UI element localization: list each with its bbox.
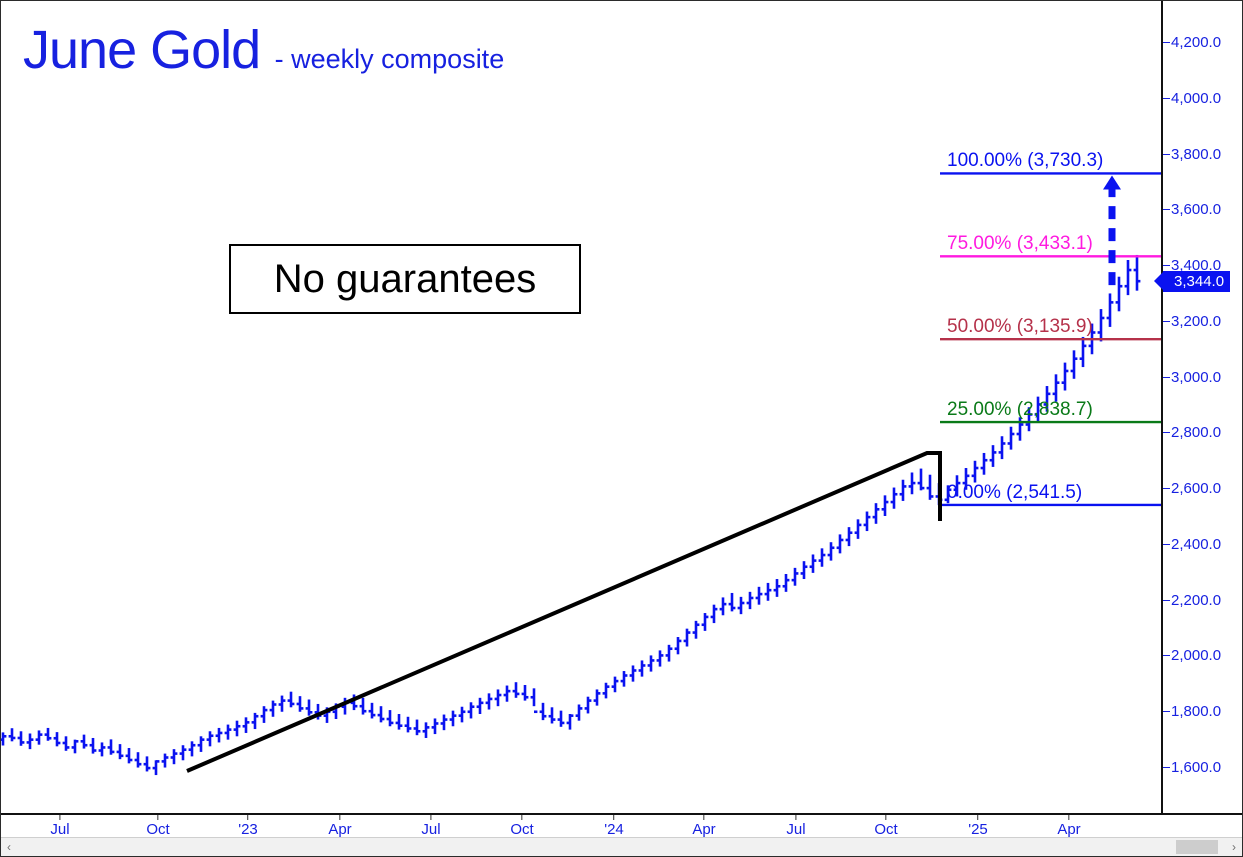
date-tick-mark bbox=[431, 815, 432, 820]
price-tick: 3,600.0 bbox=[1163, 203, 1221, 217]
date-tick: Apr bbox=[1057, 815, 1080, 838]
date-tick-mark bbox=[614, 815, 615, 820]
date-tick-mark bbox=[886, 815, 887, 820]
date-tick-label: '24 bbox=[604, 821, 624, 838]
date-tick: Apr bbox=[692, 815, 715, 838]
price-tick: 3,000.0 bbox=[1163, 370, 1221, 384]
date-tick-mark bbox=[248, 815, 249, 820]
projection-arrow-head bbox=[1103, 175, 1121, 189]
price-tick: 3,800.0 bbox=[1163, 147, 1221, 161]
horizontal-scrollbar[interactable]: ‹ › bbox=[1, 837, 1242, 856]
price-tick-mark bbox=[1163, 42, 1170, 43]
price-tick-mark bbox=[1163, 209, 1170, 210]
date-tick-label: Apr bbox=[328, 821, 351, 838]
price-tick-label: 4,000.0 bbox=[1171, 90, 1221, 107]
price-tick: 2,200.0 bbox=[1163, 593, 1221, 607]
date-tick: Jul bbox=[786, 815, 805, 838]
price-tick-mark bbox=[1163, 321, 1170, 322]
price-tick-mark bbox=[1163, 767, 1170, 768]
date-tick-label: Oct bbox=[146, 821, 169, 838]
date-tick-mark bbox=[60, 815, 61, 820]
price-tick-mark bbox=[1163, 488, 1170, 489]
price-tick-mark bbox=[1163, 544, 1170, 545]
price-tick: 4,000.0 bbox=[1163, 91, 1221, 105]
date-tick-mark bbox=[704, 815, 705, 820]
price-tick: 2,000.0 bbox=[1163, 649, 1221, 663]
date-axis[interactable]: JulOct'23AprJulOct'24AprJulOct'25Apr bbox=[1, 813, 1243, 837]
fib-level-label: 100.00% (3,730.3) bbox=[947, 150, 1103, 172]
price-tick-mark bbox=[1163, 711, 1170, 712]
fib-level-label: 50.00% (3,135.9) bbox=[947, 316, 1093, 338]
price-tick-mark bbox=[1163, 98, 1170, 99]
date-tick-label: Jul bbox=[786, 821, 805, 838]
price-tick-mark bbox=[1163, 154, 1170, 155]
price-tick-label: 2,600.0 bbox=[1171, 480, 1221, 497]
price-tick-mark bbox=[1163, 265, 1170, 266]
date-tick-label: '25 bbox=[968, 821, 988, 838]
plot-area[interactable]: 100.00% (3,730.3)75.00% (3,433.1)50.00% … bbox=[1, 1, 1161, 813]
date-tick-mark bbox=[158, 815, 159, 820]
date-tick: Jul bbox=[50, 815, 69, 838]
price-tick-mark bbox=[1163, 600, 1170, 601]
date-tick-label: Oct bbox=[874, 821, 897, 838]
price-tick: 3,200.0 bbox=[1163, 314, 1221, 328]
fib-level-label: 25.00% (2,838.7) bbox=[947, 399, 1093, 421]
price-tick-label: 2,000.0 bbox=[1171, 647, 1221, 664]
date-tick-label: Jul bbox=[50, 821, 69, 838]
date-tick: '25 bbox=[968, 815, 988, 838]
scroll-right-arrow-icon[interactable]: › bbox=[1226, 838, 1242, 856]
date-tick-mark bbox=[340, 815, 341, 820]
date-tick-label: Apr bbox=[1057, 821, 1080, 838]
current-price-value: 3,344.0 bbox=[1174, 273, 1224, 290]
date-tick-mark bbox=[796, 815, 797, 820]
date-tick: Oct bbox=[510, 815, 533, 838]
date-tick: Oct bbox=[146, 815, 169, 838]
price-tick-mark bbox=[1163, 655, 1170, 656]
fib-level-label: 0.00% (2,541.5) bbox=[947, 482, 1082, 504]
price-tick: 2,600.0 bbox=[1163, 482, 1221, 496]
date-tick: '23 bbox=[238, 815, 258, 838]
date-tick-label: Oct bbox=[510, 821, 533, 838]
fib-level-label: 75.00% (3,433.1) bbox=[947, 233, 1093, 255]
price-tick: 1,600.0 bbox=[1163, 761, 1221, 775]
date-tick: Jul bbox=[421, 815, 440, 838]
date-tick-mark bbox=[1069, 815, 1070, 820]
date-tick-label: Jul bbox=[421, 821, 440, 838]
price-tick-label: 2,200.0 bbox=[1171, 592, 1221, 609]
date-tick-mark bbox=[522, 815, 523, 820]
price-tick-mark bbox=[1163, 432, 1170, 433]
chart-window: June Gold - weekly composite No guarante… bbox=[0, 0, 1243, 857]
price-tick: 2,400.0 bbox=[1163, 537, 1221, 551]
price-axis[interactable]: 3,344.0 4,200.04,000.03,800.03,600.03,40… bbox=[1161, 1, 1243, 813]
date-tick: Apr bbox=[328, 815, 351, 838]
current-price-badge: 3,344.0 bbox=[1163, 271, 1230, 292]
price-tick: 1,800.0 bbox=[1163, 705, 1221, 719]
date-tick-mark bbox=[978, 815, 979, 820]
date-tick: '24 bbox=[604, 815, 624, 838]
price-tick-label: 3,800.0 bbox=[1171, 146, 1221, 163]
scrollbar-thumb[interactable] bbox=[1176, 840, 1218, 854]
price-tick-label: 2,400.0 bbox=[1171, 536, 1221, 553]
price-tick-label: 3,200.0 bbox=[1171, 313, 1221, 330]
price-tick-label: 3,600.0 bbox=[1171, 201, 1221, 218]
date-tick: Oct bbox=[874, 815, 897, 838]
scroll-left-arrow-icon[interactable]: ‹ bbox=[1, 838, 17, 856]
date-tick-label: '23 bbox=[238, 821, 258, 838]
date-tick-label: Apr bbox=[692, 821, 715, 838]
price-tick-label: 2,800.0 bbox=[1171, 424, 1221, 441]
price-tick: 4,200.0 bbox=[1163, 35, 1221, 49]
price-tick-mark bbox=[1163, 377, 1170, 378]
price-tick-label: 1,800.0 bbox=[1171, 703, 1221, 720]
price-tick-label: 3,000.0 bbox=[1171, 369, 1221, 386]
price-tick-label: 4,200.0 bbox=[1171, 34, 1221, 51]
price-tick-label: 1,600.0 bbox=[1171, 759, 1221, 776]
price-tick: 2,800.0 bbox=[1163, 426, 1221, 440]
